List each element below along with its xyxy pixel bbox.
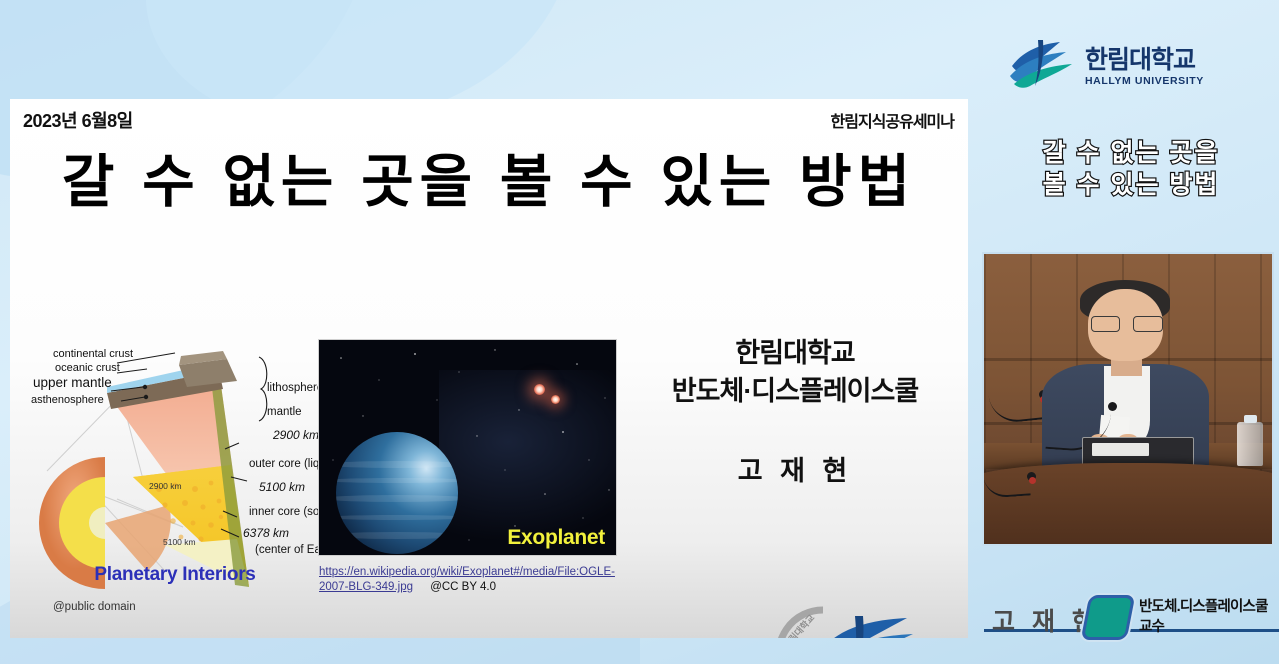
hallym-seal-watermark: 한림대학교 HALLYM UNIVERSITY bbox=[767, 598, 927, 638]
logo-korean-name: 한림대학교 bbox=[1085, 48, 1204, 73]
second-microphone-ring bbox=[1029, 477, 1036, 484]
label-continental-crust: continental crust bbox=[53, 348, 133, 360]
presentation-slide: 2023년 6월8일 한림지식공유세미나 갈 수 없는 곳을 볼 수 있는 방법 bbox=[10, 99, 968, 638]
slide-header: 2023년 6월8일 한림지식공유세미나 bbox=[10, 99, 968, 141]
lower-third-name-bar: 고 재 현 반도체.디스플레이스쿨 교수 bbox=[970, 596, 1279, 648]
water-bottle bbox=[1237, 422, 1263, 466]
sidebar-title: 갈 수 없는 곳을 볼 수 있는 방법 bbox=[1000, 138, 1262, 201]
inline-label-2900km: 2900 km bbox=[149, 481, 182, 491]
exoplanet-credit: https://en.wikipedia.org/wiki/Exoplanet#… bbox=[319, 565, 629, 595]
lower-third-role-line-1: 반도체.디스플레이스쿨 bbox=[1139, 598, 1268, 618]
exoplanet-sphere bbox=[336, 432, 458, 554]
slide-date: 2023년 6월8일 bbox=[23, 107, 133, 133]
label-2900km: 2900 km bbox=[272, 428, 319, 442]
planetary-interiors-caption: Planetary Interiors bbox=[25, 564, 325, 586]
bottle-cap bbox=[1244, 415, 1257, 423]
slide-title: 갈 수 없는 곳을 볼 수 있는 방법 bbox=[10, 151, 968, 214]
logo-english-name: HALLYM UNIVERSITY bbox=[1085, 76, 1204, 87]
label-oceanic-crust: oceanic crust bbox=[55, 362, 120, 374]
label-5100km: 5100 km bbox=[259, 480, 305, 494]
exoplanet-license: @CC BY 4.0 bbox=[430, 581, 496, 593]
planetary-interiors-credit: @public domain bbox=[53, 601, 136, 613]
speaker-video-feed[interactable] bbox=[984, 254, 1272, 544]
label-upper-mantle: upper mantle bbox=[33, 375, 112, 390]
binary-star-primary bbox=[534, 384, 545, 395]
speaker-glasses-icon bbox=[1091, 316, 1163, 332]
label-lithosphere: lithosphere bbox=[267, 382, 323, 394]
podium-microphone-head bbox=[1108, 402, 1117, 411]
laptop-label bbox=[1092, 443, 1149, 456]
binary-star-secondary bbox=[551, 395, 560, 404]
affiliation-line-2: 반도체·디스플레이스쿨 bbox=[630, 372, 960, 410]
sidebar-title-line-1: 갈 수 없는 곳을 bbox=[1000, 138, 1262, 170]
speaker-name: 고 재 현 bbox=[630, 449, 960, 488]
affiliation-line-1: 한림대학교 bbox=[630, 334, 960, 372]
label-asthenosphere: asthenosphere bbox=[31, 394, 104, 406]
planetary-interior-diagram: 2900 km 5100 km continental crust oceani… bbox=[25, 339, 335, 634]
laptop bbox=[1082, 437, 1194, 466]
label-6378km: 6378 km bbox=[243, 526, 289, 540]
lower-third-role: 반도체.디스플레이스쿨 교수 bbox=[1139, 598, 1268, 637]
lower-third-role-line-2: 교수 bbox=[1139, 618, 1268, 638]
slide-seminar-name: 한림지식공유세미나 bbox=[831, 108, 954, 132]
exoplanet-image: Exoplanet bbox=[319, 340, 616, 555]
lower-third-accent-shape bbox=[1081, 595, 1136, 640]
label-mantle: mantle bbox=[267, 406, 302, 418]
hallym-university-logo: 한림대학교 HALLYM UNIVERSITY bbox=[1008, 32, 1223, 94]
affiliation-block: 한림대학교 반도체·디스플레이스쿨 bbox=[630, 334, 960, 411]
exoplanet-label: Exoplanet bbox=[507, 526, 605, 550]
hallym-wave-mark-icon bbox=[1008, 36, 1078, 90]
inline-label-5100km: 5100 km bbox=[163, 537, 196, 547]
sidebar-title-line-2: 볼 수 있는 방법 bbox=[1000, 170, 1262, 202]
